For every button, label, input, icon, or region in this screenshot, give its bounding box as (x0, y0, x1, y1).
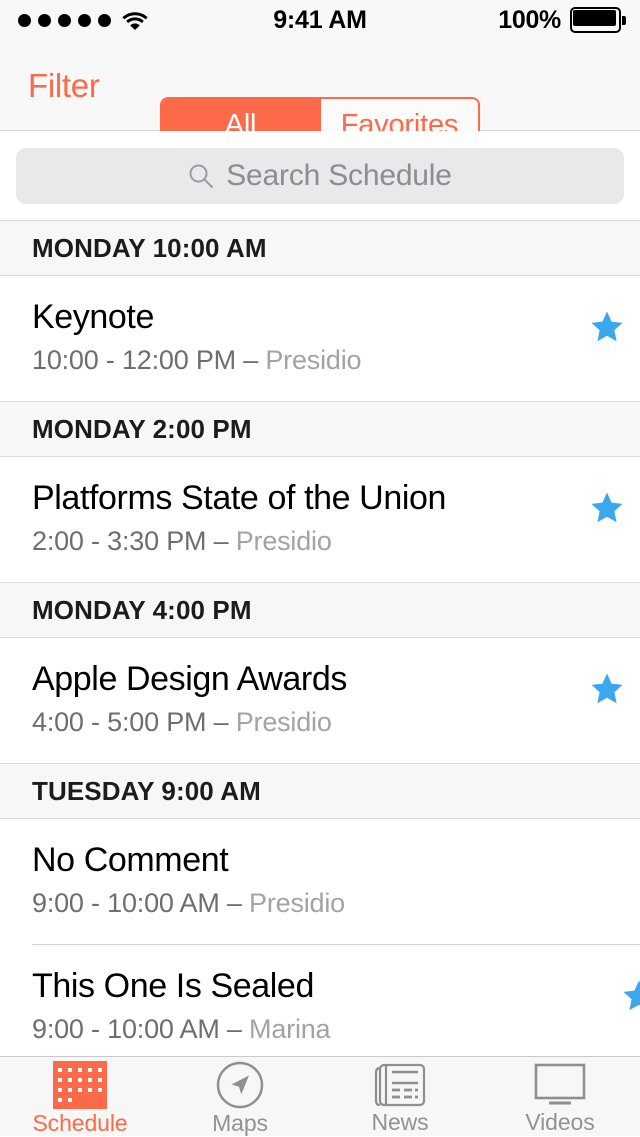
navigation-arrow-icon (215, 1061, 265, 1109)
calendar-grid-icon (53, 1061, 107, 1109)
status-bar: 9:41 AM 100% (0, 0, 640, 40)
event-location: Presidio (265, 345, 361, 375)
tab-label-schedule: Schedule (32, 1110, 127, 1137)
list-item[interactable]: Platforms State of the Union 2:00 - 3:30… (0, 457, 640, 582)
event-title: No Comment (32, 841, 608, 880)
filter-button[interactable]: Filter (16, 40, 112, 131)
event-dash: – (236, 345, 265, 375)
event-location: Marina (249, 1014, 330, 1044)
television-icon (532, 1061, 588, 1108)
event-subtitle: 9:00 - 10:00 AM – Marina (32, 1014, 608, 1045)
event-time: 2:00 - 3:30 PM (32, 526, 206, 556)
schedule-list[interactable]: MONDAY 10:00 AM Keynote 10:00 - 12:00 PM… (0, 220, 640, 1056)
event-location: Presidio (249, 888, 345, 918)
search-placeholder: Search Schedule (226, 159, 452, 193)
event-title: Keynote (32, 298, 608, 337)
event-subtitle: 2:00 - 3:30 PM – Presidio (32, 526, 608, 557)
event-dash: – (220, 1014, 249, 1044)
event-location: Presidio (236, 526, 332, 556)
app-screen: 9:41 AM 100% Filter All Favorites (0, 0, 640, 1136)
event-time: 9:00 - 10:00 AM (32, 888, 220, 918)
favorite-star-icon[interactable] (590, 491, 624, 525)
event-title: This One Is Sealed (32, 967, 608, 1006)
tab-label-videos: Videos (525, 1109, 594, 1136)
tab-videos[interactable]: Videos (480, 1057, 640, 1136)
event-dash: – (206, 526, 235, 556)
status-bar-right: 100% (498, 0, 626, 40)
event-time: 9:00 - 10:00 AM (32, 1014, 220, 1044)
navigation-bar: Filter All Favorites (0, 40, 640, 131)
section-header: MONDAY 2:00 PM (0, 401, 640, 457)
favorite-star-icon[interactable] (590, 672, 624, 706)
event-dash: – (206, 707, 235, 737)
battery-icon (570, 7, 626, 33)
list-item[interactable]: No Comment 9:00 - 10:00 AM – Presidio (0, 819, 640, 944)
event-subtitle: 4:00 - 5:00 PM – Presidio (32, 707, 608, 738)
list-item[interactable]: Apple Design Awards 4:00 - 5:00 PM – Pre… (0, 638, 640, 763)
event-subtitle: 9:00 - 10:00 AM – Presidio (32, 888, 608, 919)
search-bar-container: Search Schedule (0, 131, 640, 220)
event-subtitle: 10:00 - 12:00 PM – Presidio (32, 345, 608, 376)
tab-news[interactable]: News (320, 1057, 480, 1136)
event-location: Presidio (236, 707, 332, 737)
battery-percent-label: 100% (498, 6, 561, 35)
event-dash: – (220, 888, 249, 918)
event-time: 4:00 - 5:00 PM (32, 707, 206, 737)
favorite-star-icon[interactable] (590, 310, 624, 344)
section-header: TUESDAY 9:00 AM (0, 763, 640, 819)
event-title: Apple Design Awards (32, 660, 608, 699)
list-item[interactable]: This One Is Sealed 9:00 - 10:00 AM – Mar… (32, 944, 640, 1056)
tab-maps[interactable]: Maps (160, 1057, 320, 1136)
search-icon (188, 163, 214, 189)
event-title: Platforms State of the Union (32, 479, 608, 518)
tab-schedule[interactable]: Schedule (0, 1057, 160, 1136)
newspaper-icon (374, 1061, 426, 1108)
event-time: 10:00 - 12:00 PM (32, 345, 236, 375)
search-input[interactable]: Search Schedule (16, 148, 624, 204)
section-header: MONDAY 10:00 AM (0, 220, 640, 276)
tab-label-news: News (371, 1109, 428, 1136)
section-header: MONDAY 4:00 PM (0, 582, 640, 638)
list-item[interactable]: Keynote 10:00 - 12:00 PM – Presidio (0, 276, 640, 401)
tab-bar: Schedule Maps (0, 1056, 640, 1136)
tab-label-maps: Maps (212, 1110, 268, 1137)
favorite-star-icon[interactable] (622, 979, 640, 1013)
